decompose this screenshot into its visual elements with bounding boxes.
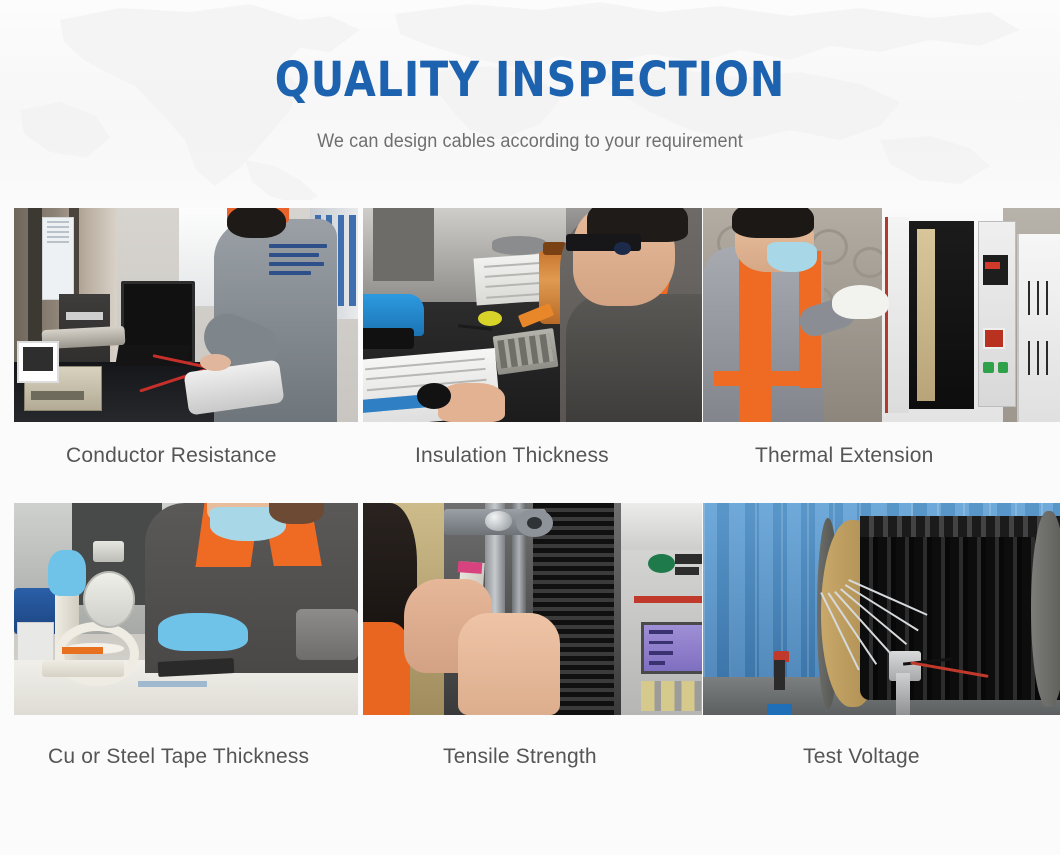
caption-conductor-resistance: Conductor Resistance (14, 444, 358, 468)
gallery-item-insulation-thickness[interactable]: Insulation Thickness (363, 208, 702, 468)
photo-tensile-strength[interactable] (363, 503, 702, 715)
caption-thermal-extension: Thermal Extension (703, 444, 1060, 468)
gallery-row: Conductor Resistance (0, 200, 1060, 495)
inspection-gallery: Conductor Resistance (0, 200, 1060, 790)
photo-conductor-resistance[interactable] (14, 208, 358, 422)
caption-tensile-strength: Tensile Strength (363, 745, 702, 769)
caption-insulation-thickness: Insulation Thickness (363, 444, 702, 468)
quality-inspection-page: QUALITY INSPECTION We can design cables … (0, 0, 1060, 855)
photo-thermal-extension[interactable] (703, 208, 1060, 422)
gallery-row: Cu or Steel Tape Thickness (0, 495, 1060, 790)
gallery-item-tape-thickness[interactable]: Cu or Steel Tape Thickness (14, 503, 358, 769)
page-subtitle: We can design cables according to your r… (27, 131, 1034, 153)
caption-test-voltage: Test Voltage (703, 745, 1060, 769)
page-title: QUALITY INSPECTION (74, 52, 986, 108)
gallery-item-test-voltage[interactable]: Test Voltage (703, 503, 1060, 769)
gallery-item-conductor-resistance[interactable]: Conductor Resistance (14, 208, 358, 468)
page-header: QUALITY INSPECTION We can design cables … (0, 0, 1060, 200)
photo-test-voltage[interactable] (703, 503, 1060, 715)
gallery-item-thermal-extension[interactable]: Thermal Extension (703, 208, 1060, 468)
gallery-item-tensile-strength[interactable]: Tensile Strength (363, 503, 702, 769)
caption-tape-thickness: Cu or Steel Tape Thickness (14, 745, 358, 769)
photo-tape-thickness[interactable] (14, 503, 358, 715)
photo-insulation-thickness[interactable] (363, 208, 702, 422)
